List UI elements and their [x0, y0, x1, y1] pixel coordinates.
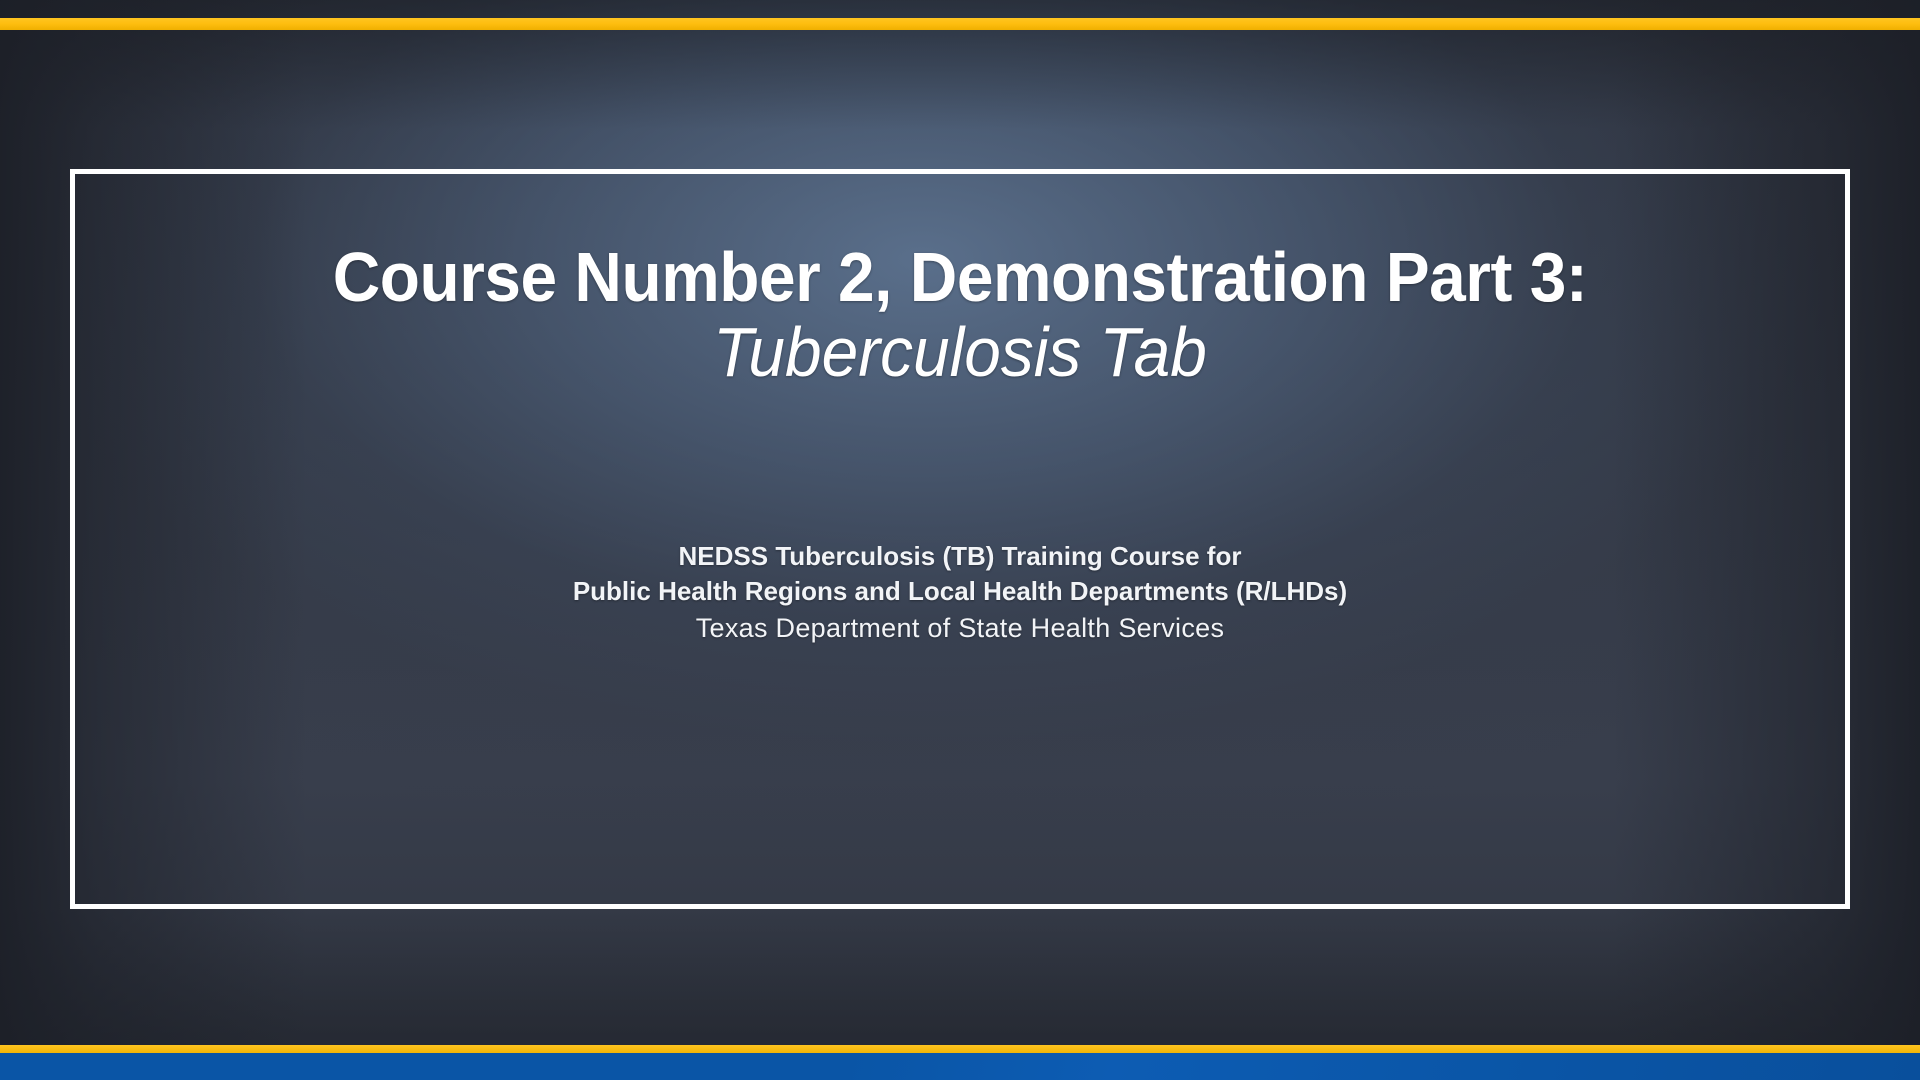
top-gold-accent-band [0, 18, 1920, 30]
bottom-gold-accent-band [0, 1045, 1920, 1053]
bottom-blue-accent-band [0, 1053, 1920, 1080]
title-slide: Course Number 2, Demonstration Part 3: T… [0, 0, 1920, 1080]
title-frame-border [70, 169, 1850, 909]
